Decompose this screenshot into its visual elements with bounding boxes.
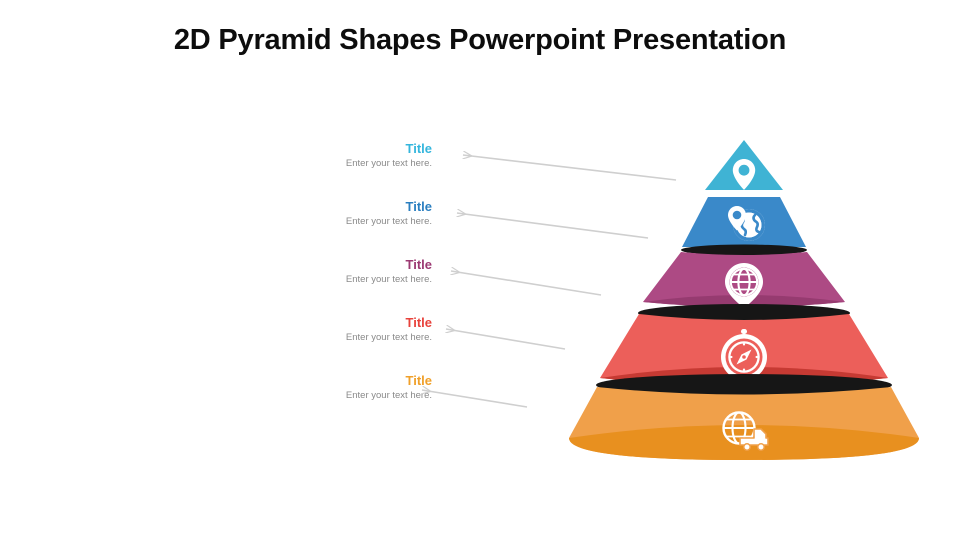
- presentation-slide: 2D Pyramid Shapes Powerpoint Presentatio…: [0, 0, 960, 540]
- pyramid-tier-3[interactable]: [643, 252, 845, 309]
- pyramid-tier-2[interactable]: [682, 197, 806, 247]
- pyramid-tier-5[interactable]: [569, 387, 919, 460]
- pyramid-tier-1[interactable]: [705, 140, 783, 190]
- pyramid-diagram: [0, 0, 960, 540]
